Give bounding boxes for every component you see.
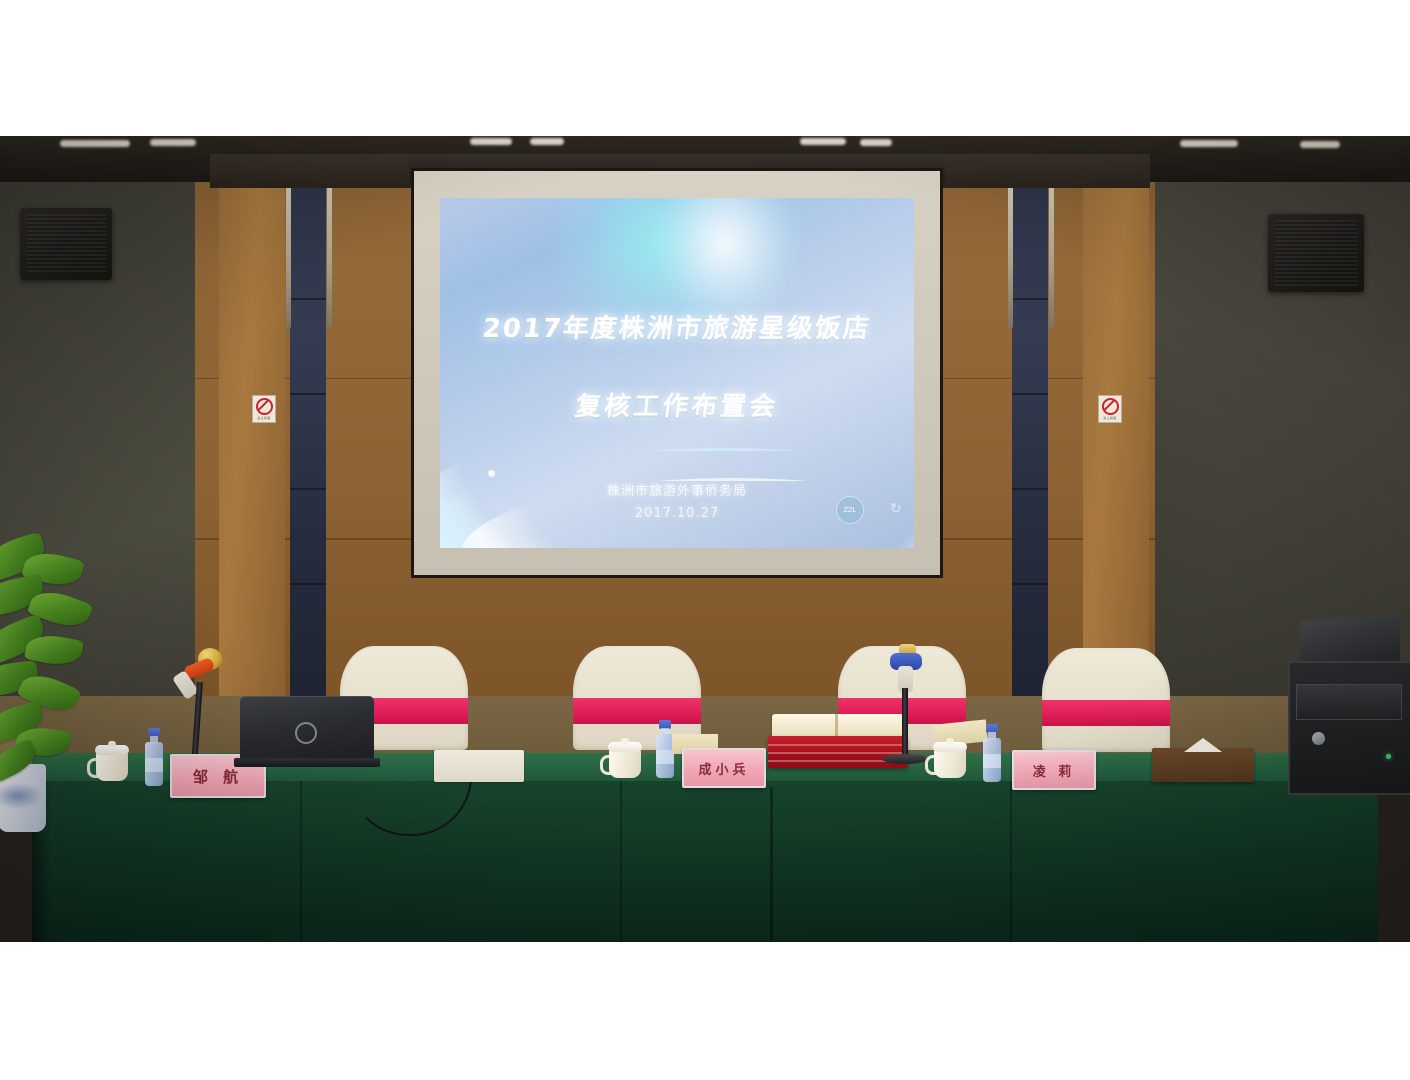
cup-knob: [946, 738, 954, 744]
water-bottle-3: [982, 724, 1002, 782]
ceiling-light-glint: [800, 138, 846, 145]
teacup-center: [605, 738, 647, 778]
bottle-label: [145, 758, 163, 772]
name-placard-2: 成小兵: [682, 748, 766, 788]
pilaster-trim-3: [1008, 178, 1013, 328]
wood-column-right: [1083, 178, 1149, 698]
ceiling-light-glint: [470, 138, 512, 145]
ceiling-light-glint: [150, 139, 196, 146]
cup-knob: [108, 741, 116, 747]
chair-sash: [573, 698, 701, 724]
placard-name-text: 成小兵: [698, 759, 749, 778]
white-box-left: [434, 750, 524, 782]
table-joint: [770, 787, 773, 942]
no-smoking-label: 禁止吸烟: [1103, 416, 1116, 420]
ceiling-light-glint: [1180, 140, 1238, 147]
tissue-box: [1152, 748, 1254, 782]
projection-screen-surface: 2017年度株洲市旅游星级饭店 复核工作布置会 株洲市旅游外事侨务局 2017.…: [440, 198, 914, 548]
no-smoking-label: 禁止吸烟: [257, 416, 270, 420]
plant-pot-pattern: [0, 782, 44, 810]
skirt-fold: [300, 781, 302, 942]
placard-name-text: 邹 航: [193, 766, 243, 787]
cup-body: [934, 748, 966, 778]
dell-logo-icon: [295, 722, 317, 744]
pilaster-trim-2: [327, 178, 332, 328]
ceiling-light-glint: [860, 139, 892, 146]
laptop-lid: [240, 696, 374, 762]
wall-speaker-left: [20, 208, 112, 280]
pilaster-trim-1: [286, 178, 291, 328]
water-bottle-1: [144, 728, 164, 786]
wall-speaker-right: [1268, 214, 1364, 292]
chair-4: [1042, 648, 1170, 752]
ceiling-light-glint: [60, 140, 130, 147]
slide-logo-icon: ZZL: [836, 496, 864, 524]
skirt-fold: [620, 781, 622, 942]
pilaster-right: [1012, 178, 1048, 698]
potted-plant: [0, 532, 140, 832]
chair-sash: [1042, 700, 1170, 726]
equipment-led: [1386, 754, 1391, 759]
cup-body: [609, 748, 641, 778]
wood-column-left: [219, 178, 285, 698]
mic-base: [882, 754, 928, 764]
no-smoking-icon: [1102, 398, 1119, 415]
cup-knob: [621, 738, 629, 744]
conference-room-photo: 2017年度株洲市旅游星级饭店 复核工作布置会 株洲市旅游外事侨务局 2017.…: [0, 136, 1410, 942]
head-table-skirt: [32, 781, 1378, 942]
equipment-knob: [1312, 732, 1325, 745]
ceiling-light-glint: [1300, 141, 1340, 148]
teacup-left: [92, 741, 134, 781]
no-smoking-icon: [256, 398, 273, 415]
slide-refresh-icon: ↻: [890, 500, 902, 517]
equipment-panel: [1296, 684, 1402, 720]
screen-highlight-spot: [488, 470, 495, 477]
slide-title-line-2: 复核工作布置会: [440, 386, 914, 423]
equipment-rack: [1288, 661, 1410, 795]
skirt-fold: [1010, 781, 1012, 942]
bottle-label: [983, 754, 1001, 768]
cup-body: [96, 751, 128, 781]
pilaster-left: [290, 178, 326, 698]
folder-stack: [768, 736, 908, 768]
ceiling-light-glint: [530, 138, 564, 145]
mic-gooseneck: [902, 688, 908, 760]
teacup-right: [930, 738, 972, 778]
no-smoking-sign-left: 禁止吸烟: [252, 395, 276, 423]
pilaster-trim-4: [1049, 178, 1054, 328]
slide-title-line-1: 2017年度株洲市旅游星级饭店: [440, 308, 914, 345]
no-smoking-sign-right: 禁止吸烟: [1098, 395, 1122, 423]
placard-name-text: 凌 莉: [1033, 761, 1076, 780]
name-placard-3: 凌 莉: [1012, 750, 1096, 790]
photo-frame: 2017年度株洲市旅游星级饭店 复核工作布置会 株洲市旅游外事侨务局 2017.…: [0, 0, 1410, 1080]
slide-organization: 株洲市旅游外事侨务局: [440, 480, 914, 499]
